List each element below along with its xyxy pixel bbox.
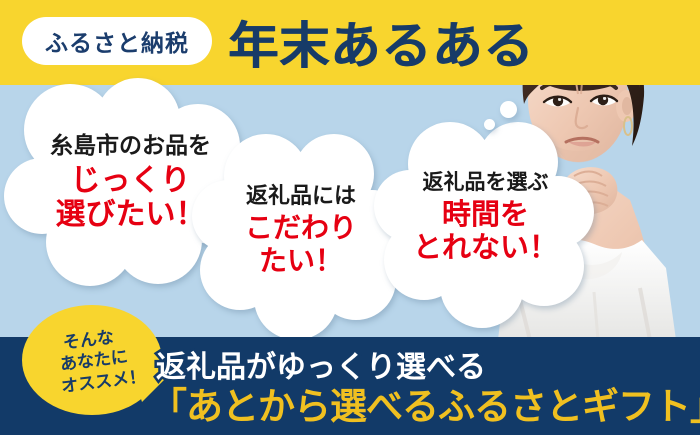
bubble-1-line-red-1: じっくり — [71, 164, 191, 198]
promo-line-1: 返礼品がゆっくり選べる — [156, 352, 698, 384]
page-title: 年末あるある — [228, 6, 534, 78]
bubble-2-line-red-1: こだわり — [245, 212, 357, 243]
thought-bubble-2: 返礼品には こだわり たい！ — [196, 130, 406, 330]
thought-bubble-3: 返礼品を選ぶ 時間を とれない！ — [378, 118, 593, 318]
bubble-2-line-red-2: たい！ — [259, 245, 343, 276]
bubble-3-line-red-1: 時間を — [442, 199, 529, 231]
bubble-1-line-dark: 糸島市のお品を — [50, 133, 211, 159]
brand-badge-label: ふるさと納税 — [45, 24, 189, 58]
promo-banner: ふるさと納税 年末あるある 糸島市のお品を じっくり 選びたい！ — [0, 0, 700, 435]
thought-bubble-2-text: 返礼品には こだわり たい！ — [196, 130, 406, 330]
brand-badge: ふるさと納税 — [22, 17, 212, 65]
promo-line-2: 「あとから選べるふるさとギフト」 — [150, 388, 698, 427]
bubble-3-line-red-2: とれない！ — [413, 232, 558, 264]
recommend-balloon-text: そんな あなたに オススメ！ — [25, 311, 163, 412]
thought-bubble-3-text: 返礼品を選ぶ 時間を とれない！ — [378, 118, 593, 318]
bubble-2-line-dark: 返礼品には — [246, 184, 356, 209]
bubble-1-line-red-2: 選びたい！ — [56, 198, 206, 232]
bubble-3-line-dark: 返礼品を選ぶ — [423, 171, 549, 195]
thought-dot-large — [500, 101, 517, 118]
thought-dot-small — [484, 119, 495, 130]
promo-copy: 返礼品がゆっくり選べる 「あとから選べるふるさとギフト」 — [150, 352, 698, 427]
